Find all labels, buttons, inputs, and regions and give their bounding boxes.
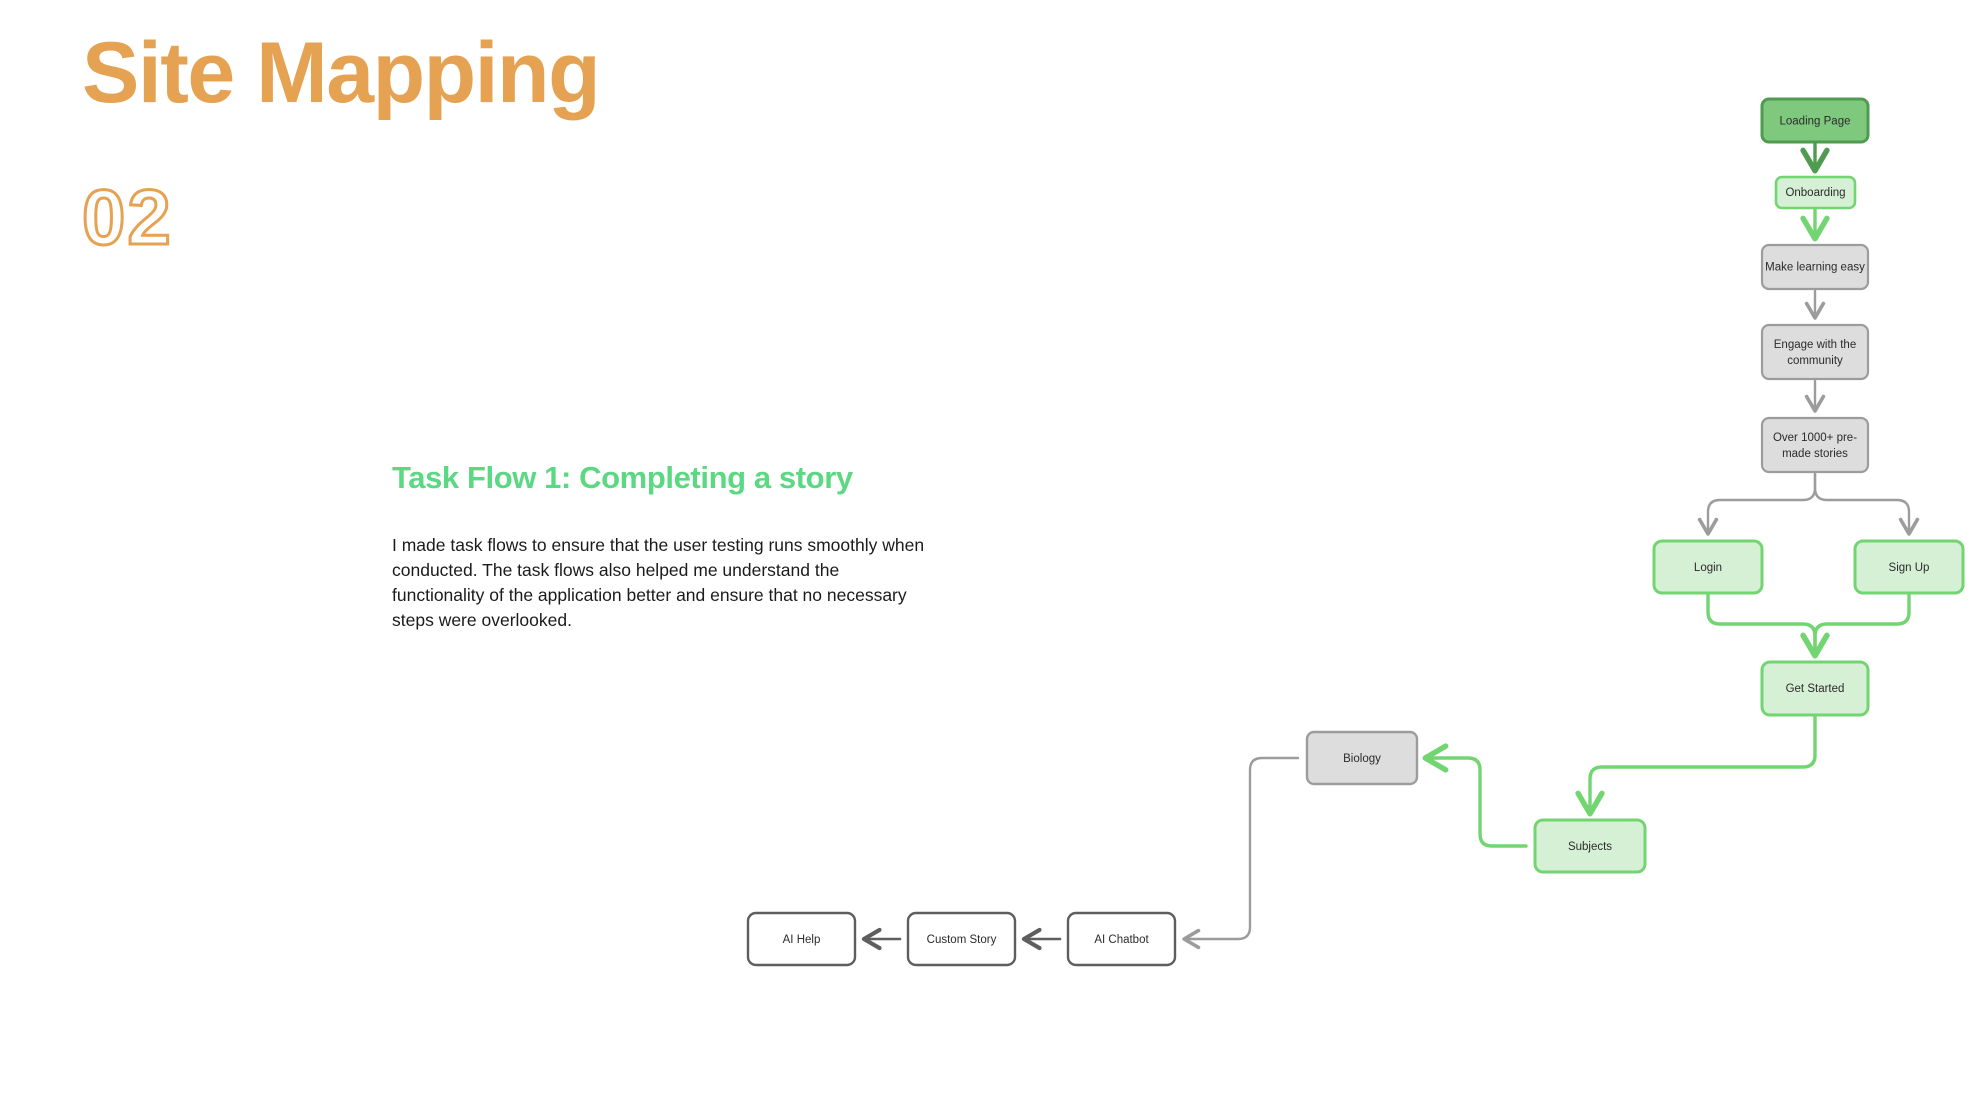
flow-node-onboarding[interactable]: Onboarding <box>1776 177 1855 208</box>
task-flow-diagram: Loading Page Onboarding Make learning ea… <box>0 0 1980 1094</box>
edge-subjects-to-biology <box>1428 758 1526 846</box>
flow-node-make-learning-easy[interactable]: Make learning easy <box>1762 245 1868 289</box>
node-label-line2: community <box>1787 355 1843 367</box>
flow-node-get-started[interactable]: Get Started <box>1762 662 1868 715</box>
node-label-line1: Over 1000+ pre- <box>1773 432 1857 444</box>
node-label: AI Help <box>783 934 821 946</box>
node-label: Sign Up <box>1889 562 1930 574</box>
node-label-line1: Engage with the <box>1774 339 1856 351</box>
edge-get-started-to-subjects <box>1590 717 1815 811</box>
node-label: Make learning easy <box>1765 262 1865 274</box>
flow-node-biology[interactable]: Biology <box>1307 732 1417 784</box>
node-label: Subjects <box>1568 841 1612 853</box>
node-box[interactable] <box>1762 418 1868 472</box>
node-label: Biology <box>1343 753 1381 765</box>
edge-biology-to-ai-chatbot <box>1186 758 1298 939</box>
node-box[interactable] <box>1762 325 1868 379</box>
flow-node-loading-page[interactable]: Loading Page <box>1762 99 1868 142</box>
flow-node-login[interactable]: Login <box>1654 541 1762 593</box>
flow-node-over-1000-pre-made-stories[interactable]: Over 1000+ pre- made stories <box>1762 418 1868 472</box>
edge-signup-to-get-started <box>1815 595 1909 653</box>
flow-node-ai-help[interactable]: AI Help <box>748 913 855 965</box>
edge-login-to-get-started <box>1708 595 1815 653</box>
flow-nodes: Loading Page Onboarding Make learning ea… <box>748 99 1963 965</box>
node-label: Loading Page <box>1780 116 1851 128</box>
node-label: Custom Story <box>927 934 997 946</box>
edge-stories-to-signup <box>1815 474 1909 532</box>
flow-node-engage-with-the-community[interactable]: Engage with the community <box>1762 325 1868 379</box>
flow-node-subjects[interactable]: Subjects <box>1535 820 1645 872</box>
node-label: Login <box>1694 562 1722 574</box>
node-label: Get Started <box>1786 683 1845 695</box>
node-label: AI Chatbot <box>1094 934 1149 946</box>
edge-stories-to-login <box>1708 474 1815 532</box>
flow-node-sign-up[interactable]: Sign Up <box>1855 541 1963 593</box>
node-label: Onboarding <box>1785 187 1845 199</box>
flow-node-ai-chatbot[interactable]: AI Chatbot <box>1068 913 1175 965</box>
node-label-line2: made stories <box>1782 448 1848 460</box>
flow-node-custom-story[interactable]: Custom Story <box>908 913 1015 965</box>
